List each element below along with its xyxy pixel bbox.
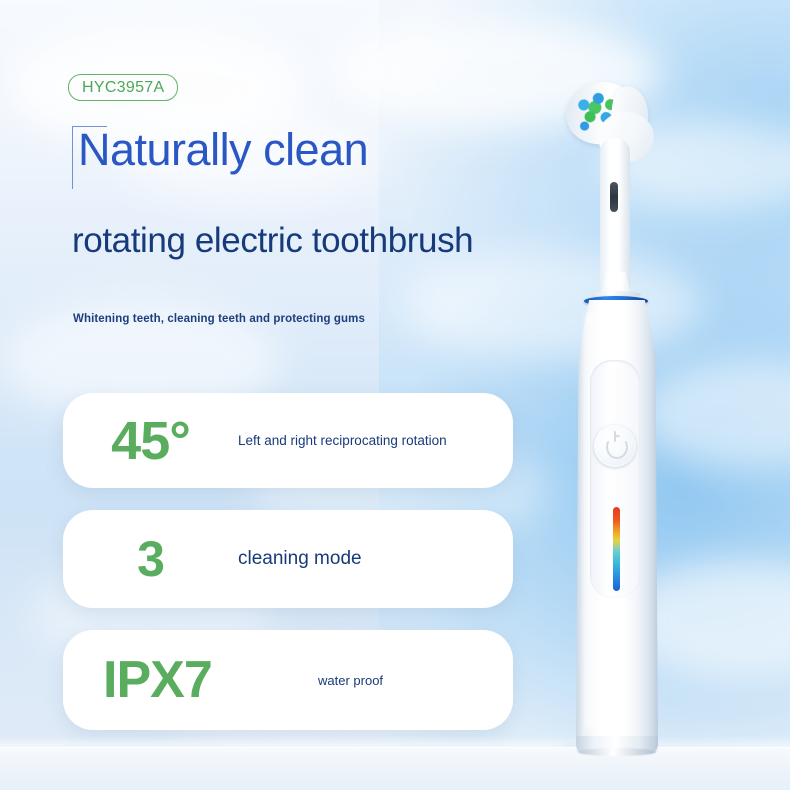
feature-card-angle: 45° Left and right reciprocating rotatio…	[63, 393, 513, 488]
power-icon-stem	[614, 431, 616, 442]
page-subtitle: rotating electric toothbrush	[72, 222, 473, 260]
page-tagline: Whitening teeth, cleaning teeth and prot…	[73, 313, 365, 325]
feature-stat: 45°	[63, 410, 238, 472]
product-banner: HYC3957A Naturally clean rotating electr…	[0, 0, 790, 790]
feature-stat: IPX7	[63, 650, 318, 710]
feature-card-waterproof: IPX7 water proof	[63, 630, 513, 730]
feature-description: water proof	[318, 673, 383, 688]
feature-stat: 3	[63, 530, 238, 588]
electric-toothbrush-image	[520, 60, 720, 760]
feature-description: cleaning mode	[238, 548, 362, 570]
page-title: Naturally clean	[78, 126, 368, 174]
feature-description: Left and right reciprocating rotation	[238, 433, 447, 448]
brush-neck-slot	[610, 182, 618, 212]
handle-foot	[578, 748, 656, 756]
mode-indicator-strip	[613, 507, 620, 591]
feature-card-modes: 3 cleaning mode	[63, 510, 513, 608]
model-badge: HYC3957A	[68, 74, 178, 101]
